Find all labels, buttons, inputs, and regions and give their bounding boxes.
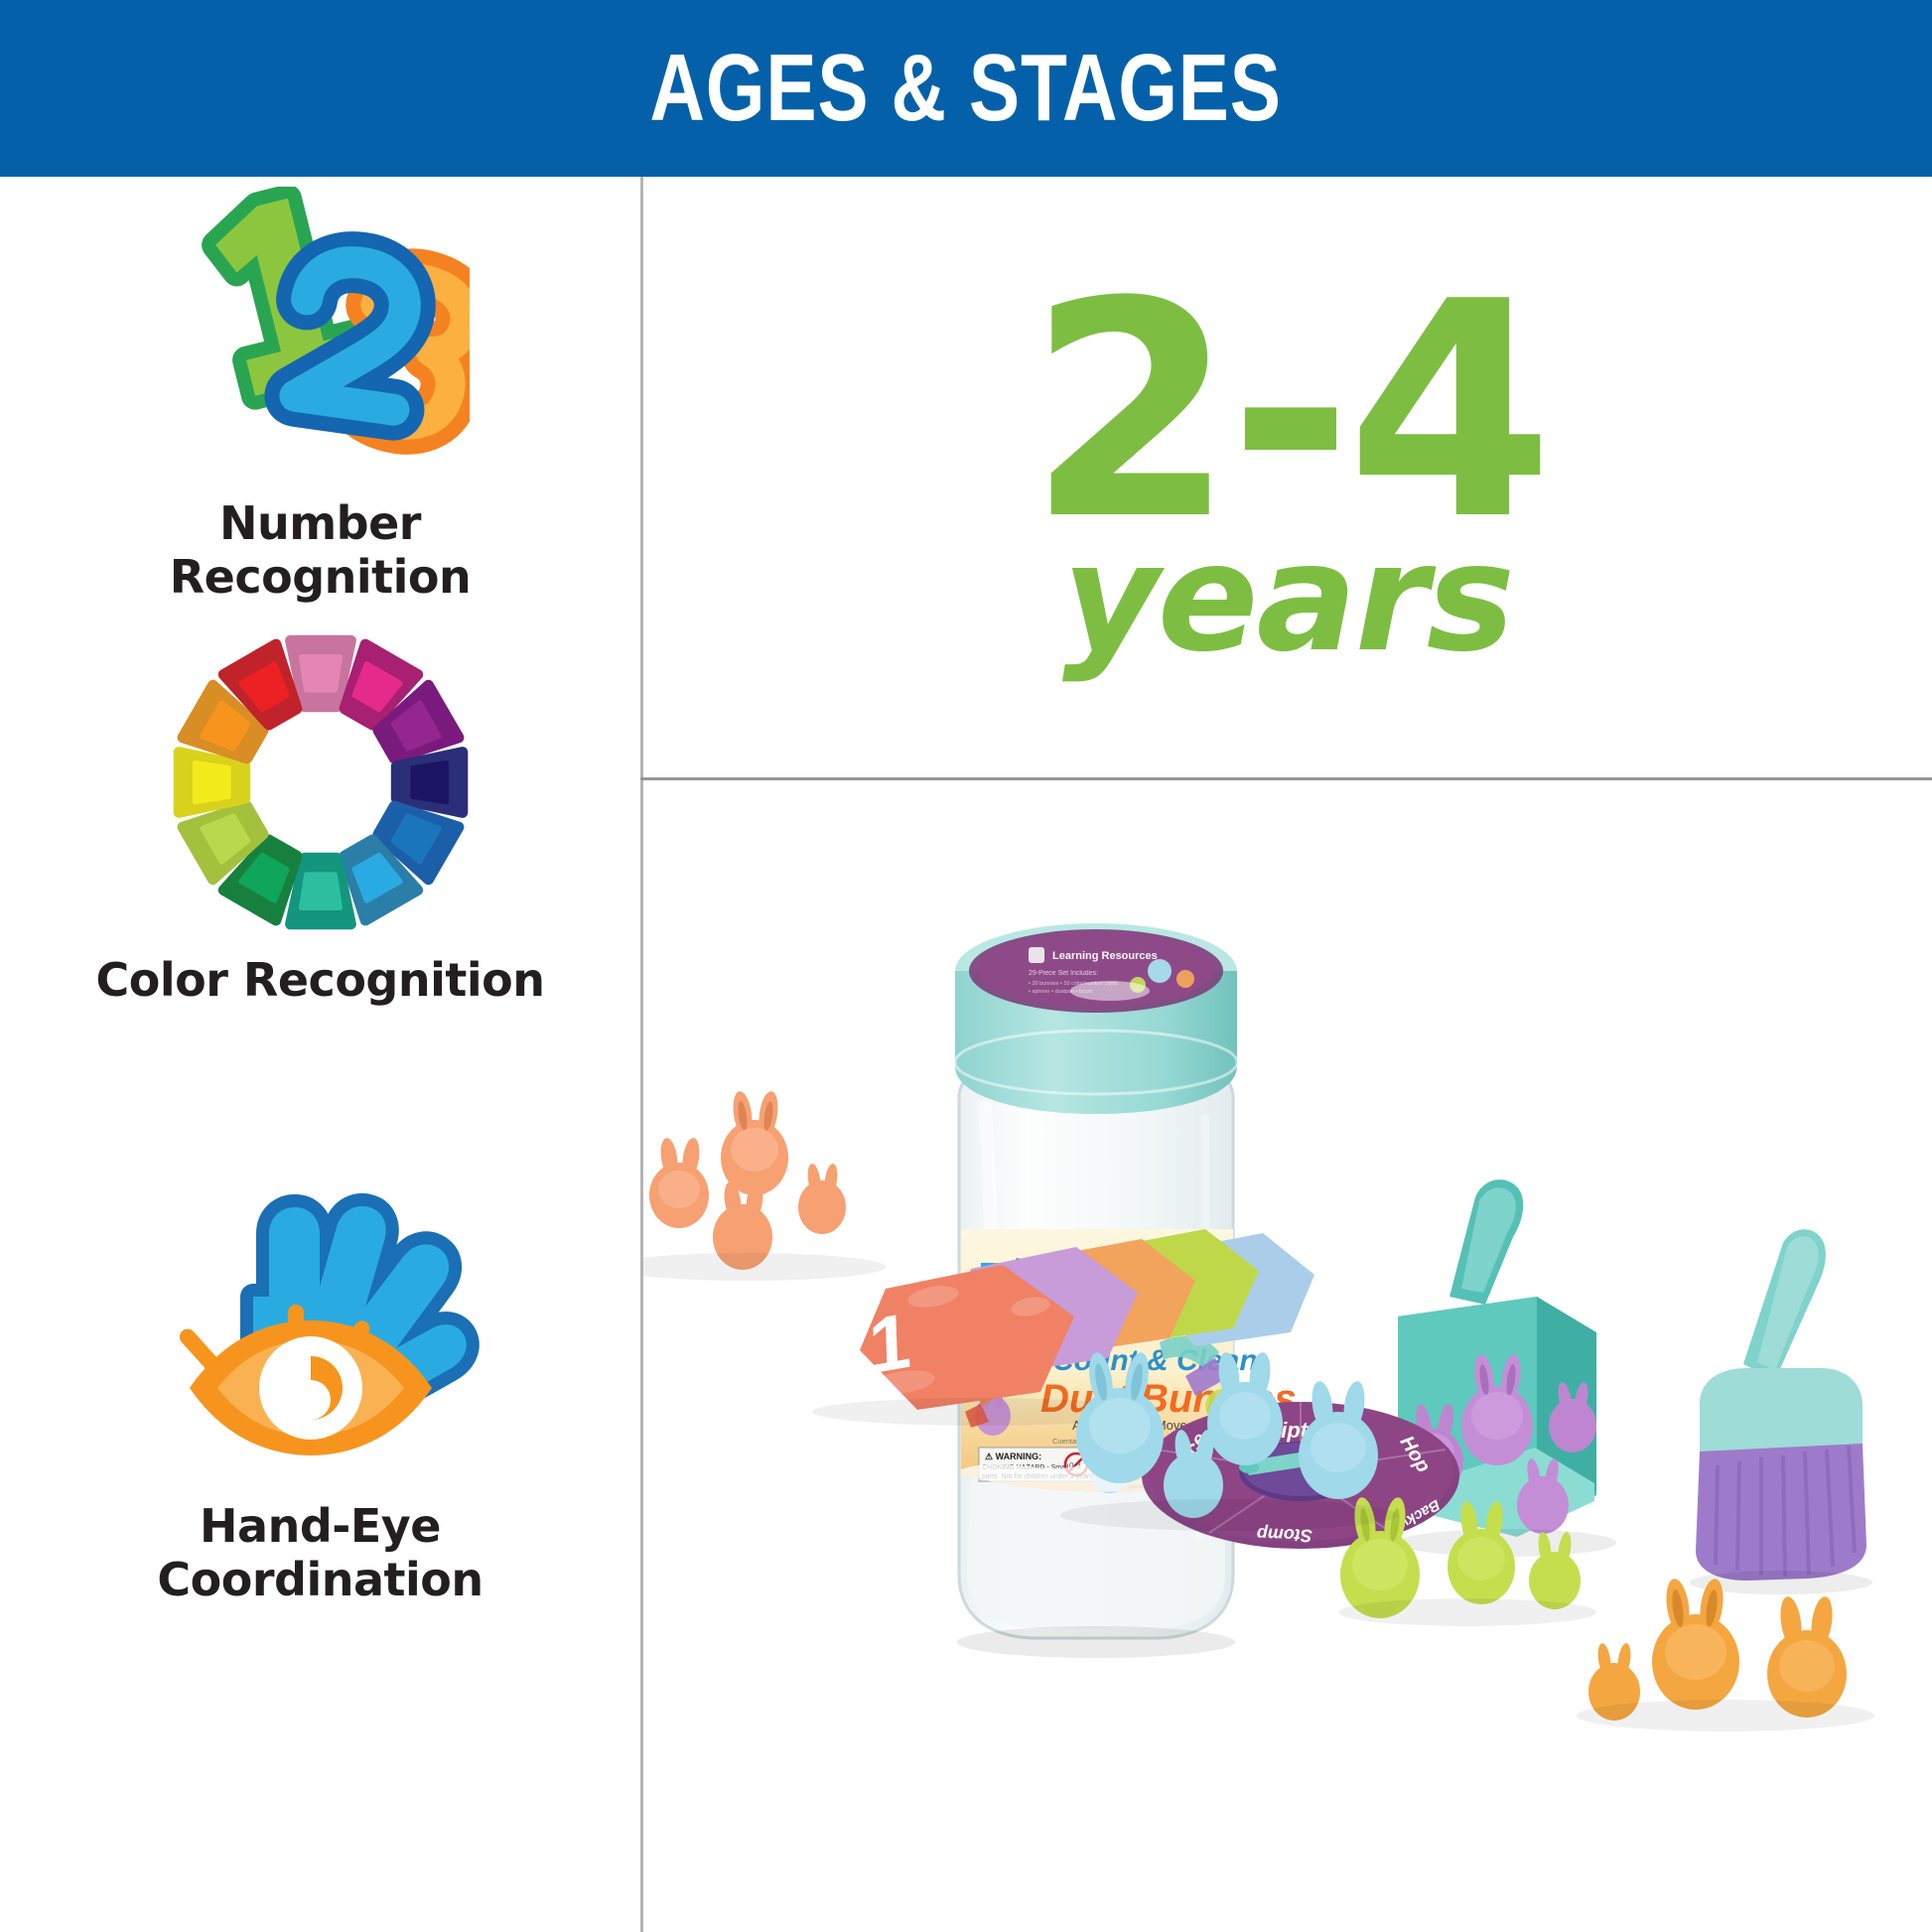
jar-lid: Learning Resources 29-Piece Set Includes… <box>955 923 1237 1114</box>
card-number: 1 <box>867 1296 912 1391</box>
cleaning-brush <box>1690 1229 1872 1594</box>
feature-label: Number Recognition <box>0 496 640 605</box>
color-wheel-segment <box>179 753 245 813</box>
feature-column: Number Recognition Color Recognition <box>0 177 640 1932</box>
svg-text:29-Piece Set Includes:: 29-Piece Set Includes: <box>1029 970 1098 977</box>
bunny-blue-3 <box>1299 1380 1378 1499</box>
bunny-group-blue <box>1060 1351 1398 1531</box>
feature-label-line1: Color Recognition <box>0 953 640 1007</box>
feature-color-recognition: Color Recognition <box>0 633 640 1007</box>
numbers-123-icon <box>172 187 470 475</box>
bunny-orange-l1 <box>721 1090 788 1195</box>
age-unit: years <box>1062 524 1513 673</box>
bunny-orange-r1 <box>1652 1578 1739 1710</box>
ages-and-stages-infographic: AGES & STAGES <box>0 0 1932 1932</box>
feature-hand-eye-coordination: Hand-Eye Coordination <box>0 1179 640 1607</box>
feature-label-line1: Hand-Eye <box>0 1499 640 1553</box>
product-photo-panel: Learning Resources 29-Piece Set Includes… <box>643 780 1932 1932</box>
svg-text:Learning Resources: Learning Resources <box>1052 950 1158 962</box>
feature-label-line2: Coordination <box>0 1553 640 1606</box>
product-photo: Learning Resources 29-Piece Set Includes… <box>643 780 1932 1932</box>
feature-number-recognition: Number Recognition <box>0 187 640 605</box>
color-wheel-segment <box>290 858 350 924</box>
bunny-orange-r2 <box>1767 1595 1847 1718</box>
bunny-orange-l2 <box>649 1137 709 1228</box>
page-title: AGES & STAGES <box>650 41 1282 136</box>
bunny-group-orange-left <box>643 1090 886 1281</box>
hand-eye-icon <box>162 1179 480 1477</box>
age-panel: 2-4 years <box>643 180 1932 777</box>
warning-title: ⚠ WARNING: <box>985 1451 1041 1461</box>
feature-label-line2: Recognition <box>0 550 640 604</box>
color-wheel-icon <box>172 633 470 931</box>
feature-label: Color Recognition <box>0 953 640 1007</box>
age-range: 2-4 <box>1028 284 1548 540</box>
bunny-orange-l4 <box>798 1163 846 1234</box>
feature-label-line1: Number <box>0 496 640 550</box>
bunny-group-orange-right <box>1577 1578 1874 1731</box>
color-wheel-segment <box>290 640 350 707</box>
header-banner: AGES & STAGES <box>0 0 1932 177</box>
color-wheel-segment <box>396 753 463 813</box>
feature-label: Hand-Eye Coordination <box>0 1499 640 1607</box>
